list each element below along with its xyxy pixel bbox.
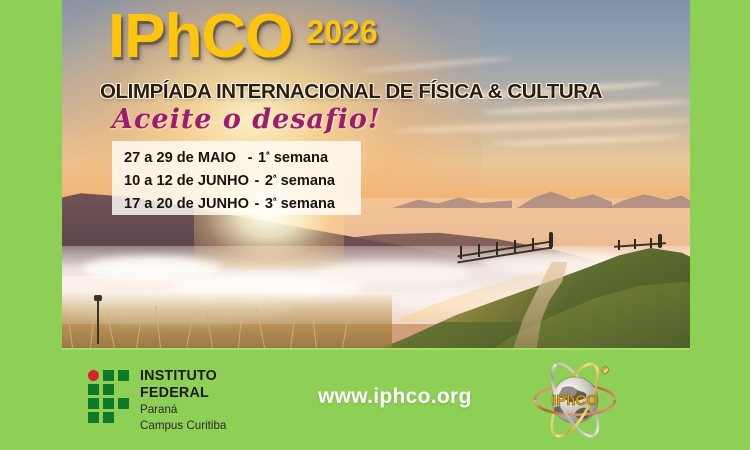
week-ordinal: ª: [273, 196, 277, 207]
institute-campus: Campus Curitiba: [140, 418, 288, 433]
schedule-dash: -: [249, 194, 265, 215]
schedule-week: 2ª semana: [265, 171, 335, 192]
logo-cell-red: [88, 370, 99, 381]
edition-year: 2026: [306, 16, 377, 48]
emblem-label: IPhCO: [552, 392, 598, 409]
railing-post: [496, 242, 498, 255]
schedule-week: 3ª semana: [265, 194, 335, 215]
logo-cell: [88, 398, 99, 409]
schedule-row: 17 a 20 de JUNHO - 3ª semana: [112, 193, 361, 216]
week-number: 2: [265, 173, 273, 189]
week-ordinal: ª: [266, 150, 270, 161]
railing-post: [650, 238, 652, 248]
week-label: semana: [274, 150, 328, 166]
schedule-row: 27 a 29 de MAIO - 1ª semana: [112, 147, 361, 170]
cloud-streak: [492, 135, 682, 147]
poster: IPhCO2026 OLIMPÍADA INTERNACIONAL DE FÍS…: [0, 0, 750, 450]
schedule-date-range: 27 a 29 de MAIO: [124, 148, 242, 169]
schedule-date-range: 17 a 20 de JUNHO: [124, 194, 249, 215]
ifpr-grid-logo-icon: [88, 370, 132, 420]
logo-cell: [88, 412, 99, 423]
week-label: semana: [281, 173, 335, 189]
logo-cell: [88, 384, 99, 395]
schedule-week: 1ª semana: [258, 148, 328, 169]
event-subtitle: OLIMPÍADA INTERNACIONAL DE FÍSICA & CULT…: [100, 80, 700, 104]
logo-cell: [103, 384, 114, 395]
tagline: Aceite o desafio!: [112, 104, 381, 135]
logo-cell: [118, 370, 129, 381]
railing-post: [478, 244, 480, 257]
antenna-pole: [97, 300, 99, 344]
railing-post: [532, 238, 534, 251]
schedule-dash: -: [242, 148, 258, 169]
week-number: 3: [265, 196, 273, 212]
schedule-box: 27 a 29 de MAIO - 1ª semana 10 a 12 de J…: [112, 141, 361, 215]
logo-cell: [103, 370, 114, 381]
website-url[interactable]: www.iphco.org: [318, 385, 472, 409]
hiker-figure: [549, 232, 553, 248]
footer-divider: [62, 348, 690, 350]
week-ordinal: ª: [273, 173, 277, 184]
schedule-date-range: 10 a 12 de JUNHO: [124, 171, 249, 192]
brand-title: IPhCO: [108, 6, 292, 68]
atom-globe-icon: IPhCO: [520, 352, 630, 448]
railing-post: [634, 239, 636, 249]
ifpr-logo: INSTITUTO FEDERAL Paraná Campus Curitiba: [88, 370, 288, 422]
title-block: IPhCO2026: [108, 6, 688, 68]
schedule-dash: -: [249, 171, 265, 192]
week-label: semana: [281, 196, 335, 212]
railing-post: [460, 246, 462, 259]
logo-cell: [118, 398, 129, 409]
institute-state: Paraná: [140, 402, 288, 417]
ifpr-logo-text: INSTITUTO FEDERAL Paraná Campus Curitiba: [140, 368, 288, 433]
logo-cell: [103, 412, 114, 423]
schedule-row: 10 a 12 de JUNHO - 2ª semana: [112, 170, 361, 193]
hiker-figure: [658, 234, 662, 248]
week-number: 1: [258, 150, 266, 166]
logo-cell: [103, 398, 114, 409]
railing-post: [514, 240, 516, 253]
institute-name: INSTITUTO FEDERAL: [140, 368, 288, 402]
railing-post: [618, 240, 620, 250]
